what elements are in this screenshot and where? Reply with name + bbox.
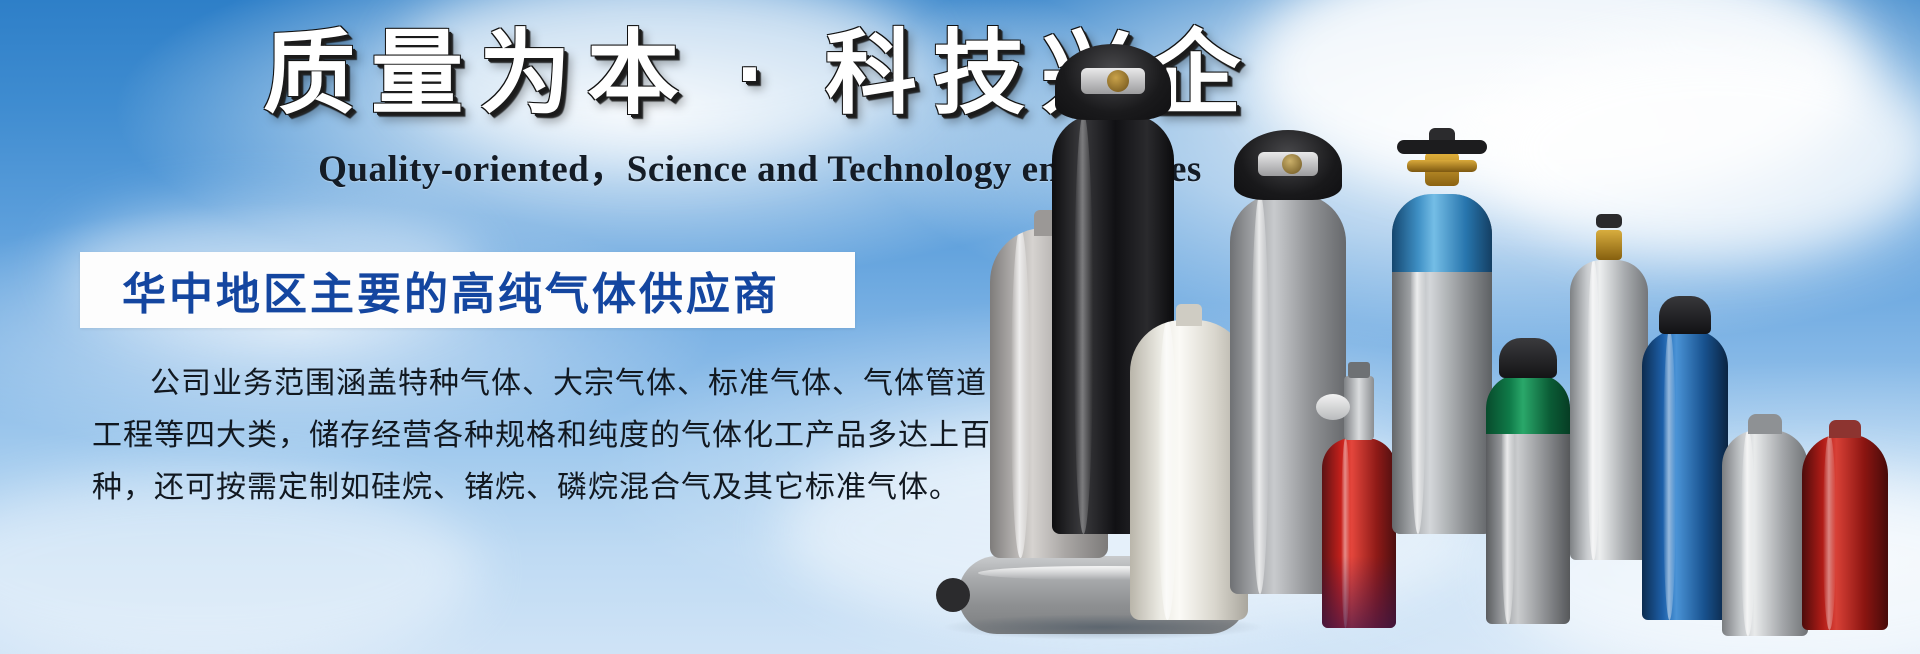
brass-valve — [1586, 220, 1632, 262]
aluminium-cylinder-short — [1722, 430, 1808, 636]
tagline-box: 华中地区主要的高纯气体供应商 — [80, 252, 855, 328]
description-line-2: 工程等四大类，储存经营各种规格和纯度的气体化工产品多达上百 — [92, 410, 882, 462]
valve-cap — [1748, 414, 1782, 434]
cylinder-regulator — [1344, 376, 1374, 440]
description-line-3: 种，还可按需定制如硅烷、锗烷、磷烷混合气及其它标准气体。 — [92, 462, 882, 514]
blue-cylinder-right — [1642, 330, 1728, 620]
dark-red-cylinder-right — [1802, 434, 1888, 630]
valve-guard-cap — [1234, 130, 1342, 200]
black-valve-cap — [1499, 338, 1557, 378]
promo-banner: 质量为本 · 科技兴企 Quality-oriented，Science and… — [0, 0, 1920, 654]
blue-banded-cylinder — [1392, 194, 1492, 534]
valve-cap — [1829, 420, 1861, 438]
valve-guard-cap — [1055, 44, 1171, 120]
red-cylinder-small — [1322, 438, 1396, 628]
brass-valve — [1411, 136, 1473, 196]
banner-description: 公司业务范围涵盖特种气体、大宗气体、标准气体、气体管道 工程等四大类，储存经营各… — [92, 358, 882, 514]
description-line-1: 公司业务范围涵盖特种气体、大宗气体、标准气体、气体管道 — [92, 358, 882, 410]
green-shoulder-cylinder — [1486, 374, 1570, 624]
gas-cylinder-photo-group — [930, 0, 1920, 654]
aluminium-cylinder — [1570, 260, 1648, 560]
black-valve-cap — [1659, 296, 1711, 334]
tagline-text: 华中地区主要的高纯气体供应商 — [80, 258, 780, 322]
